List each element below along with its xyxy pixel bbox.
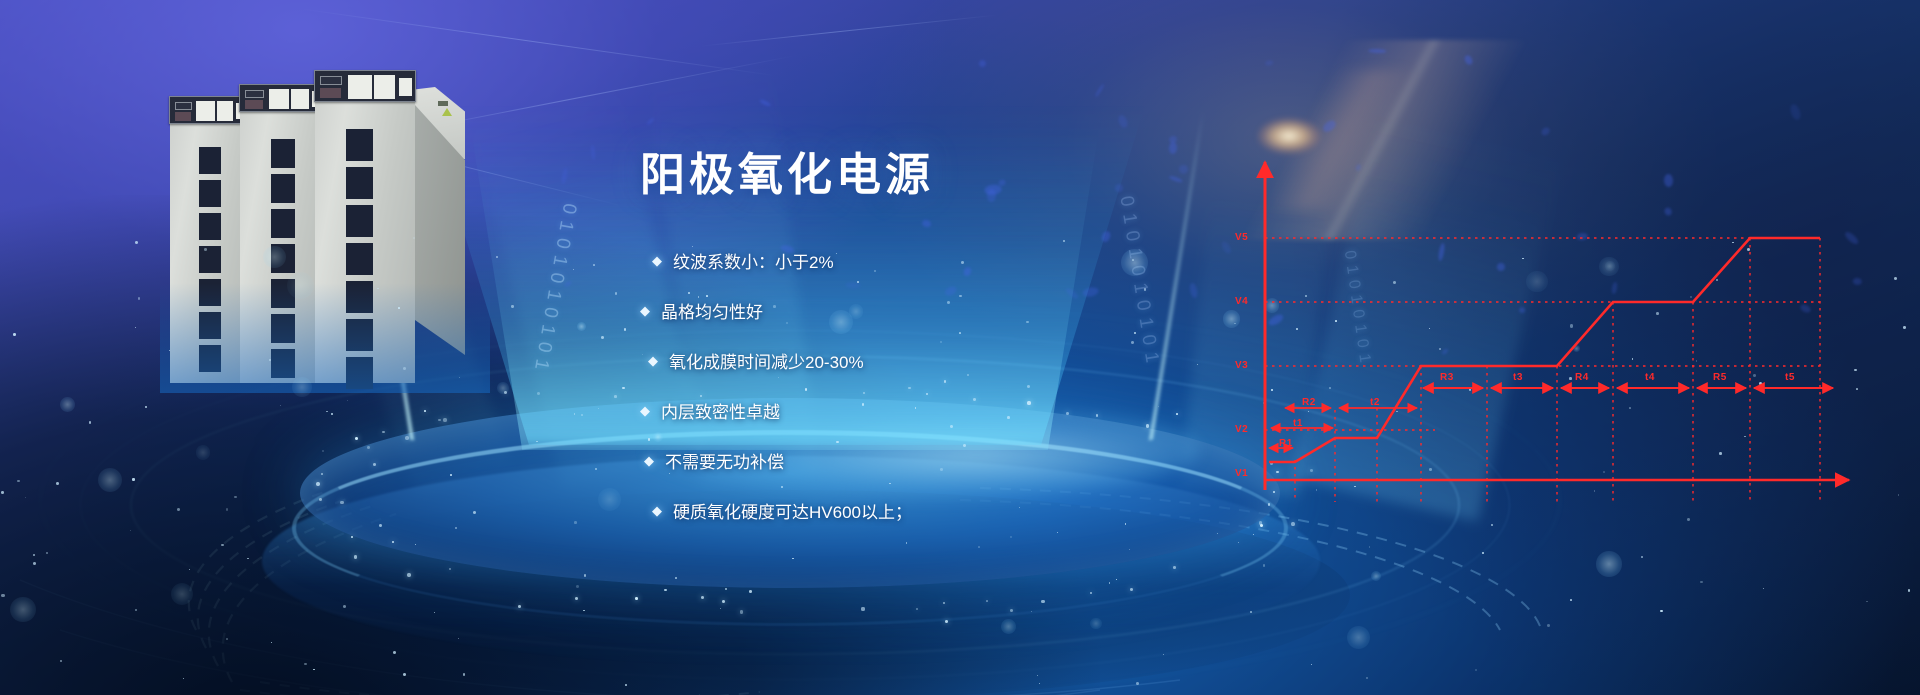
particle-dot	[326, 411, 327, 412]
page-title: 阳极氧化电源	[640, 138, 1280, 203]
particle-bokeh	[1596, 551, 1621, 576]
particle-bokeh	[98, 468, 122, 492]
particle-dot	[33, 554, 35, 556]
particle-dot	[536, 441, 537, 442]
particle-dot	[1475, 669, 1477, 671]
particle-sparkle	[1116, 579, 1118, 581]
diamond-bullet-icon: ◆	[652, 254, 662, 267]
particle-dot	[861, 607, 864, 610]
particle-dot	[331, 413, 333, 415]
particle-shard	[759, 98, 771, 107]
particle-dot	[347, 400, 348, 401]
particle-dot	[145, 406, 146, 407]
particle-dot	[624, 328, 627, 331]
particle-dot	[415, 544, 416, 545]
particle-bokeh	[577, 322, 586, 331]
chart-xlabel-r1: R1	[1279, 438, 1293, 449]
particle-dot	[473, 511, 476, 514]
particle-shard	[1463, 54, 1474, 66]
list-item: ◆ 内层致密性卓越	[640, 398, 1280, 423]
diamond-bullet-icon: ◆	[640, 304, 650, 317]
list-item-label: 内层致密性卓越	[661, 398, 780, 423]
particle-dot	[593, 264, 595, 266]
particle-dot	[1037, 675, 1038, 676]
particle-sparkle	[916, 608, 918, 610]
particle-dot	[675, 577, 677, 579]
list-item-label: 硬质氧化硬度可达HV600以上；	[673, 498, 912, 523]
particle-sparkle	[945, 620, 948, 623]
particle-bokeh	[1001, 619, 1016, 634]
list-item: ◆ 晶格均匀性好	[640, 298, 1280, 323]
list-item-label: 不需要无功补偿	[665, 448, 784, 473]
particle-dot	[1, 491, 4, 494]
particle-bokeh	[60, 397, 75, 412]
particle-dot	[25, 497, 26, 498]
chart-xlabel-t5: t5	[1785, 372, 1795, 383]
particle-shard	[1321, 118, 1337, 133]
particle-dot	[537, 392, 540, 395]
chart-xlabel-r5: R5	[1713, 372, 1727, 383]
particle-dot	[1660, 610, 1663, 613]
particle-sparkle	[518, 605, 521, 608]
particle-dot	[398, 307, 400, 309]
particle-dot	[177, 508, 180, 511]
chart-xlabel-r2: R2	[1302, 397, 1316, 408]
particle-sparkle	[321, 473, 323, 475]
particle-sparkle	[407, 573, 411, 577]
copy-block: 阳极氧化电源 ◆ 纹波系数小：小于2% ◆ 晶格均匀性好 ◆ 氧化成膜时间减少2…	[640, 138, 1280, 548]
list-item-label: 氧化成膜时间减少20-30%	[669, 348, 864, 373]
particle-bokeh	[287, 272, 314, 299]
particle-dot	[1763, 588, 1764, 589]
particle-dot	[622, 387, 625, 390]
particle-bokeh	[263, 246, 285, 268]
diamond-bullet-icon: ◆	[640, 404, 650, 417]
diamond-bullet-icon: ◆	[648, 354, 658, 367]
particle-dot	[595, 468, 597, 470]
particle-dot	[455, 527, 457, 529]
particle-sparkle	[701, 596, 704, 599]
particle-dot	[226, 508, 229, 511]
particle-dot	[1366, 677, 1368, 679]
particle-dot	[1163, 654, 1164, 655]
particle-sparkle	[373, 463, 376, 466]
particle-shard	[1368, 48, 1386, 53]
particle-dot	[60, 660, 63, 663]
particle-sparkle	[575, 597, 578, 600]
particle-dot	[496, 256, 498, 258]
particle-dot	[169, 350, 170, 351]
particle-dot	[226, 638, 228, 640]
particle-dot	[1263, 564, 1265, 566]
particle-bokeh	[1347, 626, 1370, 649]
particle-dot	[1908, 589, 1911, 592]
particle-dot	[583, 610, 585, 612]
particle-dot	[138, 297, 140, 299]
particle-dot	[1894, 277, 1897, 280]
particle-sparkle	[943, 602, 945, 604]
particle-dot	[403, 367, 406, 370]
chart-xlabel-t1: t1	[1293, 418, 1303, 429]
particle-sparkle	[319, 498, 322, 501]
chart-xlabel-r3: R3	[1440, 372, 1454, 383]
particle-dot	[1, 594, 4, 597]
particle-dot	[343, 605, 346, 608]
particle-dot	[247, 558, 249, 560]
diamond-bullet-icon: ◆	[644, 454, 654, 467]
particle-dot	[720, 608, 721, 609]
particle-shard	[564, 280, 573, 288]
particle-dot	[1250, 611, 1253, 614]
particle-sparkle	[316, 482, 320, 486]
particle-dot	[1547, 624, 1550, 627]
particle-dot	[33, 562, 36, 565]
particle-shard	[1540, 126, 1551, 137]
particle-sparkle	[740, 610, 744, 614]
particle-dot	[434, 612, 435, 613]
particle-dot	[749, 590, 752, 593]
particle-dot	[221, 544, 224, 547]
particle-dot	[576, 585, 579, 588]
particle-bokeh	[1090, 618, 1102, 630]
particle-dot	[135, 327, 136, 328]
particle-sparkle	[354, 555, 357, 558]
particle-sparkle	[367, 446, 371, 450]
particle-sparkle	[424, 410, 426, 412]
particle-dot	[1482, 552, 1484, 554]
list-item: ◆ 纹波系数小：小于2%	[652, 248, 1280, 273]
particle-shard	[1094, 84, 1105, 99]
chart-xlabel-t4: t4	[1645, 372, 1655, 383]
particle-dot	[13, 333, 16, 336]
particle-dot	[313, 669, 314, 670]
particle-shard	[1117, 114, 1129, 129]
particle-dot	[413, 237, 416, 240]
particle-dot	[130, 530, 131, 531]
particle-dot	[1866, 601, 1868, 603]
particle-shard	[978, 59, 987, 68]
particle-dot	[234, 496, 237, 499]
particle-dot	[664, 589, 667, 592]
particle-dot	[304, 663, 306, 665]
particle-sparkle	[340, 501, 343, 504]
particle-sparkle	[986, 600, 988, 602]
particle-dot	[183, 678, 184, 679]
list-item-label: 晶格均匀性好	[661, 298, 763, 323]
particle-dot	[189, 569, 190, 570]
particle-dot	[135, 609, 137, 611]
particle-sparkle	[355, 437, 358, 440]
particle-shard	[590, 145, 596, 160]
particle-sparkle	[351, 536, 353, 538]
particle-dot	[1903, 326, 1906, 329]
particle-sparkle	[382, 431, 384, 433]
particle-bokeh	[497, 382, 509, 394]
particle-dot	[458, 638, 459, 639]
particle-sparkle	[438, 419, 440, 421]
chart-xlabel-t3: t3	[1513, 372, 1523, 383]
particle-dot	[601, 336, 604, 339]
diamond-bullet-icon: ◆	[652, 504, 662, 517]
particle-sparkle	[598, 408, 600, 410]
particle-dot	[574, 413, 576, 415]
particle-dot	[584, 574, 586, 576]
particle-bokeh	[196, 445, 211, 460]
particle-bokeh	[598, 488, 621, 511]
particle-sparkle	[1130, 588, 1133, 591]
list-item: ◆ 氧化成膜时间减少20-30%	[648, 348, 1280, 373]
particle-dot	[1311, 664, 1312, 665]
particle-dot	[403, 673, 406, 676]
particle-sparkle	[1291, 522, 1295, 526]
particle-dot	[450, 474, 452, 476]
particle-sparkle	[1173, 566, 1176, 569]
chart-xlabel-t2: t2	[1370, 397, 1380, 408]
particle-dot	[459, 377, 461, 379]
particle-dot	[280, 405, 281, 406]
particle-dot	[271, 642, 273, 644]
particle-dot	[574, 521, 577, 524]
promo-banner: 0101010101 0101010101 01010101	[0, 0, 1920, 695]
particle-bokeh	[171, 583, 193, 605]
particle-dot	[17, 480, 19, 482]
feature-list: ◆ 纹波系数小：小于2% ◆ 晶格均匀性好 ◆ 氧化成膜时间减少20-30% ◆…	[640, 248, 1280, 523]
particle-dot	[269, 359, 271, 361]
particle-dot	[1369, 546, 1370, 547]
particle-sparkle	[405, 436, 409, 440]
particle-dot	[1687, 518, 1690, 521]
particle-sparkle	[722, 600, 725, 603]
particle-dot	[1031, 611, 1032, 612]
particle-dot	[725, 588, 727, 590]
particle-shard	[1265, 60, 1273, 66]
particle-dot	[377, 288, 379, 290]
particle-dot	[463, 673, 466, 676]
particle-dot	[1570, 599, 1572, 601]
particle-dot	[46, 552, 48, 554]
particle-dot	[511, 305, 513, 307]
particle-dot	[1109, 582, 1110, 583]
particle-dot	[581, 414, 583, 416]
particle-dot	[135, 241, 138, 244]
particle-dot	[89, 421, 92, 424]
particle-dot	[56, 482, 59, 485]
particle-shard	[646, 117, 655, 125]
particle-sparkle	[443, 418, 447, 422]
particle-dot	[573, 269, 574, 270]
voltage-ramp-chart: V5 V4 V3 V2 V1 R1 t1 R2 t2 R3 t3 R4 t4 R…	[1225, 150, 1865, 510]
list-item: ◆ 硬质氧化硬度可达HV600以上；	[652, 498, 1280, 523]
chart-xlabel-r4: R4	[1575, 372, 1589, 383]
particle-bokeh	[292, 377, 312, 397]
particle-dot	[1641, 556, 1643, 558]
particle-sparkle	[1090, 592, 1092, 594]
particle-dot	[1041, 600, 1044, 603]
particle-dot	[1136, 682, 1139, 685]
list-item-label: 纹波系数小：小于2%	[673, 248, 834, 273]
particle-dot	[615, 292, 617, 294]
particle-sparkle	[449, 568, 451, 570]
particle-dot	[204, 248, 207, 251]
particle-bokeh	[10, 597, 35, 622]
particle-dot	[1039, 683, 1040, 684]
particle-sparkle	[392, 541, 395, 544]
particle-dot	[1898, 494, 1899, 495]
particle-dot	[1491, 524, 1493, 526]
particle-shard	[561, 168, 569, 184]
particle-bokeh	[1371, 571, 1381, 581]
particle-sparkle	[1010, 609, 1013, 612]
particle-sparkle	[635, 597, 638, 600]
particle-sparkle	[614, 395, 617, 398]
particle-dot	[625, 684, 627, 686]
particle-dot	[393, 651, 396, 654]
particle-shard	[1788, 103, 1802, 122]
particle-dot	[1700, 581, 1702, 583]
particle-dot	[132, 478, 134, 480]
particle-dot	[322, 450, 324, 452]
particle-dot	[792, 558, 794, 560]
particle-dot	[1129, 549, 1130, 550]
particle-sparkle	[504, 391, 507, 394]
particle-dot	[379, 524, 382, 527]
list-item: ◆ 不需要无功补偿	[644, 448, 1280, 473]
